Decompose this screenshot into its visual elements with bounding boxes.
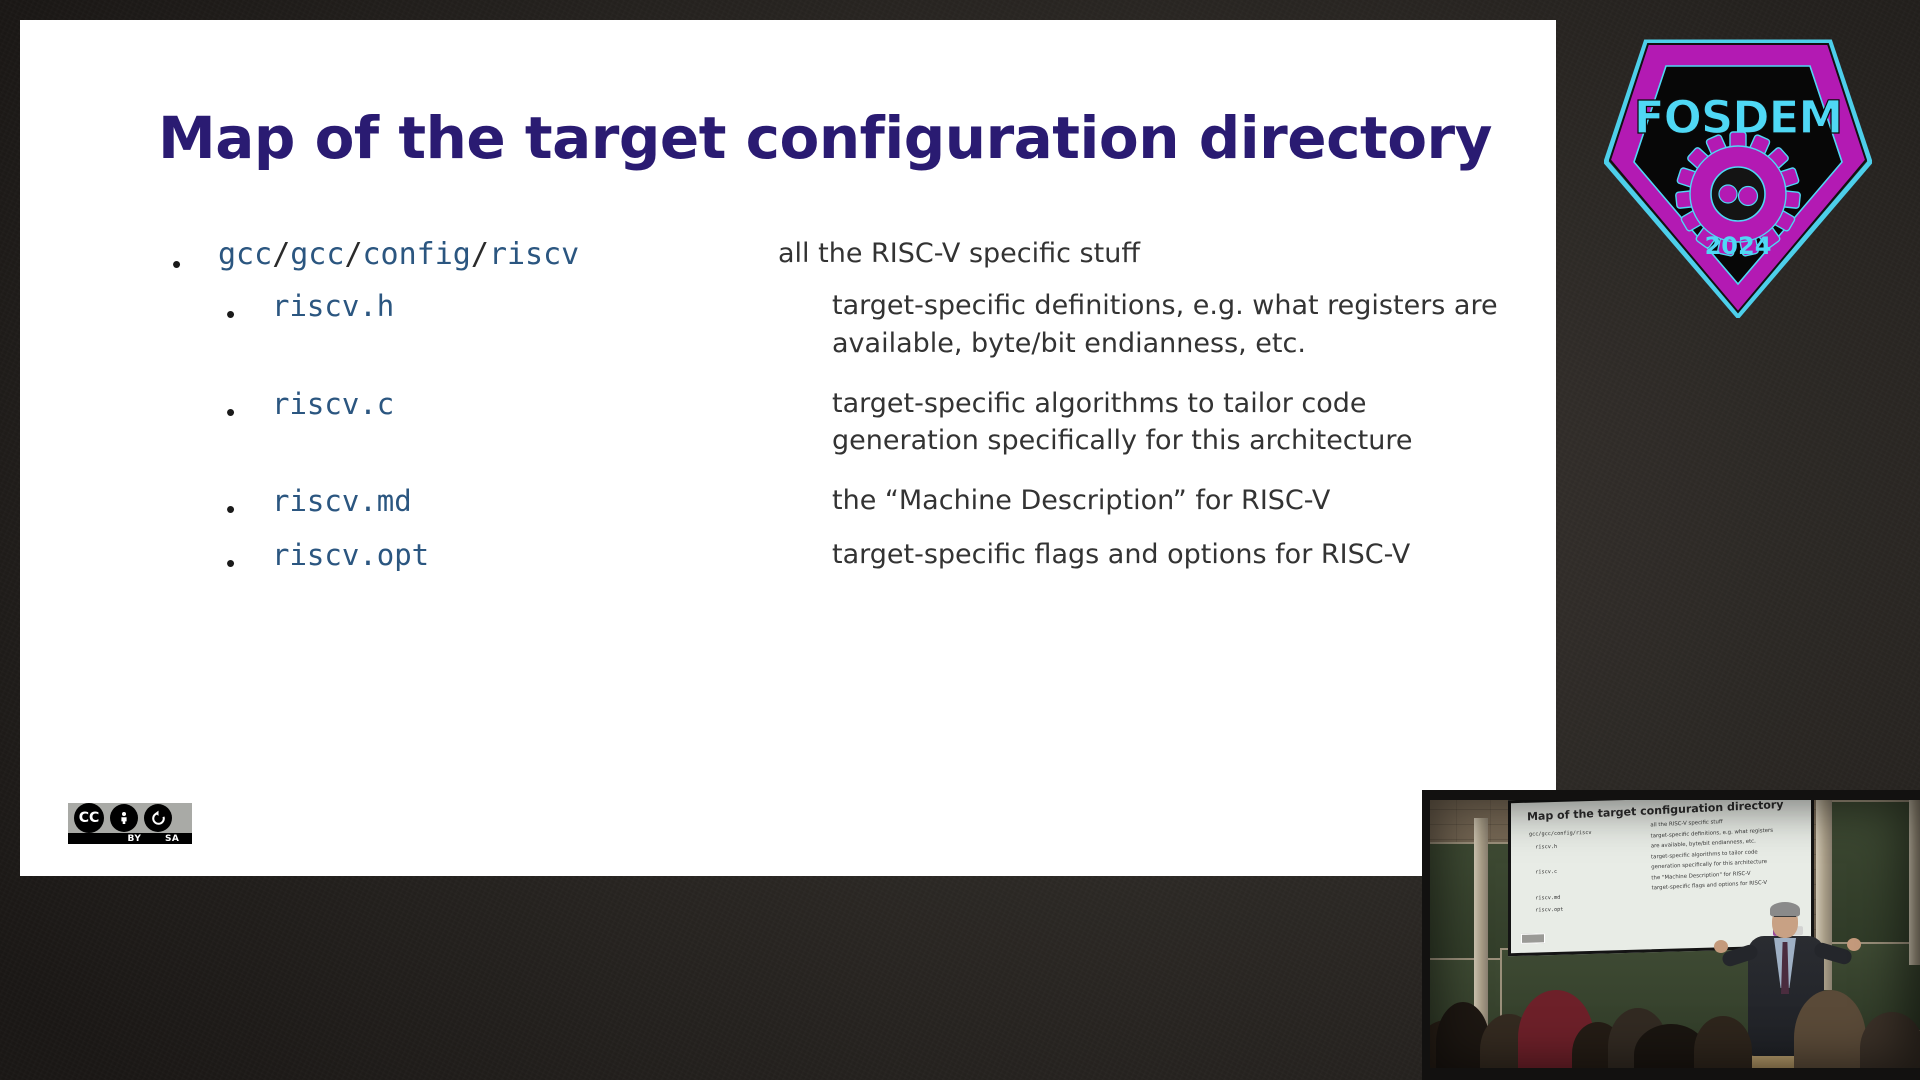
attribution-person-icon [110, 804, 138, 832]
code-path-label: riscv.opt [272, 536, 832, 574]
speaker-glasses [1774, 916, 1796, 922]
cc-badge-labels: BY SA [68, 833, 192, 844]
list-item-riscv-h: • riscv.h target-specific definitions, e… [158, 287, 1518, 363]
audience-member [1794, 990, 1866, 1080]
camera-frame: Map of the target configuration director… [1422, 790, 1920, 1080]
bullet-icon: • [158, 287, 272, 327]
cc-by-label: BY [117, 834, 153, 844]
speaker-right-hand [1847, 938, 1861, 951]
wall-pillar [1474, 818, 1488, 1028]
description-text: all the RISC-V specific stuff [778, 235, 1478, 273]
outline-list: • gcc/gcc/config/riscv all the RISC-V sp… [158, 235, 1518, 590]
speaker-left-hand [1714, 940, 1728, 953]
code-path-label: gcc/gcc/config/riscv [218, 235, 778, 275]
video-letterbox-left [1422, 790, 1430, 1080]
description-text: target-specific algorithms to tailor cod… [832, 385, 1518, 461]
creative-commons-icon: CC [74, 803, 104, 833]
fosdem-2024-logo: FOSDEM [1604, 38, 1872, 318]
list-item-riscv-c: • riscv.c target-specific algorithms to … [158, 385, 1518, 461]
presentation-stage: Map of the target configuration director… [0, 0, 1920, 1080]
description-text: target-specific definitions, e.g. what r… [832, 287, 1518, 363]
speaker-camera-feed[interactable]: Map of the target configuration director… [1422, 790, 1920, 1080]
bullet-icon: • [158, 536, 272, 576]
share-alike-icon [144, 804, 172, 832]
bullet-icon: • [158, 385, 272, 425]
cc-by-sa-badge[interactable]: CC BY SA [66, 801, 194, 846]
projected-slide-right-column: all the RISC-V specific stuff target-spe… [1650, 815, 1774, 894]
bullet-icon: • [158, 482, 272, 522]
bullet-icon: • [158, 235, 218, 277]
fosdem-year: 2024 [1705, 232, 1772, 260]
projected-slide-left-column: gcc/gcc/config/riscv riscv.h riscv.c ris… [1529, 827, 1591, 918]
list-item-riscv-opt: • riscv.opt target-specific flags and op… [158, 536, 1518, 576]
projected-cc-badge [1521, 933, 1545, 944]
description-text: target-specific flags and options for RI… [832, 536, 1518, 574]
description-text: the “Machine Description” for RISC-V [832, 482, 1518, 520]
video-letterbox-bottom [1422, 1068, 1920, 1080]
speaker-hair [1770, 902, 1800, 917]
cc-badge-icons: CC [68, 803, 192, 833]
gear-eye-left-icon [1719, 185, 1737, 203]
video-letterbox-top [1422, 790, 1920, 800]
chalkboard [1820, 800, 1920, 954]
code-path-label: riscv.h [272, 287, 832, 325]
list-item-gcc-config-riscv: • gcc/gcc/config/riscv all the RISC-V sp… [158, 235, 1518, 277]
gear-eye-right-icon [1739, 187, 1758, 206]
page-title: Map of the target configuration director… [158, 104, 1492, 172]
projection-screen: Map of the target configuration director… [1508, 792, 1814, 957]
wall-pillar [1909, 790, 1920, 965]
slide-canvas: Map of the target configuration director… [20, 20, 1556, 876]
list-item-riscv-md: • riscv.md the “Machine Description” for… [158, 482, 1518, 522]
code-path-label: riscv.md [272, 482, 832, 520]
cc-sa-label: SA [152, 834, 192, 844]
code-path-label: riscv.c [272, 385, 832, 423]
